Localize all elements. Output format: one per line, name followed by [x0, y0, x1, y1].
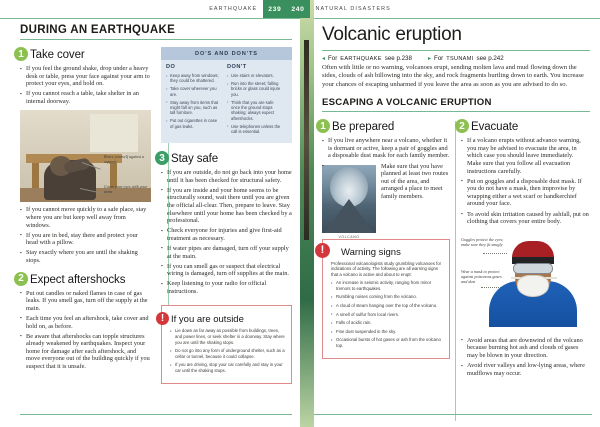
step-expect-aftershocks: 2 Expect aftershocks Put out candles or … [20, 272, 151, 371]
list-item: To avoid skin irritation caused by ashfa… [461, 211, 589, 226]
header-spacer-left [0, 0, 203, 18]
list-item: Think that you are safe once the ground … [227, 100, 282, 122]
dos-and-donts-heading: DO'S AND DON'TS [161, 47, 292, 60]
xref-prefix: For [434, 55, 443, 62]
left-column-2: DO'S AND DON'TS DO Keep away from window… [161, 47, 292, 384]
goggles-shape [513, 263, 553, 274]
step-item-list: If you feel the ground shake, drop under… [20, 65, 151, 105]
step-title: Be prepared [332, 121, 394, 133]
left-column-1: 1 Take cover If you feel the ground shak… [20, 47, 151, 384]
dont-column: DON'T Use stairs or elevators. Run into … [227, 64, 282, 137]
outside-box-title: If you are outside [171, 314, 244, 325]
dust-mask-shape [517, 275, 549, 297]
list-item: Put out cigarettes in case of gas leaks. [166, 118, 221, 129]
xref-topic: EARTHQUAKE [340, 56, 381, 62]
chapter-title: Volcanic eruption [322, 24, 590, 46]
right-page-top-rule [314, 18, 600, 19]
list-item: If you live anywhere near a volcano, whe… [322, 137, 450, 160]
section-heading: ESCAPING A VOLCANIC ERUPTION [322, 97, 590, 111]
list-item: If water pipes are damaged, turn off you… [161, 245, 292, 260]
right-page-bottom-rule [314, 414, 592, 415]
exclamation-icon: ! [156, 312, 169, 325]
right-page: Volcanic eruption ◂ For EARTHQUAKE see p… [300, 18, 600, 427]
list-item: Avoid river valleys and low-lying areas,… [461, 362, 589, 377]
chapter-title-rule [322, 50, 590, 51]
step-title: Stay safe [171, 153, 218, 165]
xref-prefix: For [328, 55, 337, 62]
list-item: If you are driving, stop your car carefu… [170, 362, 285, 373]
warning-box-list: An increase in seismic activity, ranging… [331, 280, 443, 348]
cross-reference-tsunami[interactable]: ▸ For TSUNAMI see p.242 [428, 55, 504, 62]
list-item: Stay exactly where you are until the sha… [20, 249, 151, 264]
list-item: Put out candles or naked flames in case … [20, 290, 151, 313]
outside-box-list: Lie down as far away as possible from bu… [170, 328, 285, 373]
list-item: A cloud of steam hanging over the top of… [331, 303, 443, 309]
xref-topic: TSUNAMI [446, 56, 473, 62]
running-header: EARTHQUAKE 239 240 NATURAL DISASTERS [0, 0, 600, 18]
right-column-1: 1 Be prepared If you live anywhere near … [322, 119, 450, 382]
photo-man-wrapper: Goggles protect the eyes; make sure they… [461, 231, 589, 335]
list-item: Fine dust suspended in the sky. [331, 329, 443, 335]
do-column: DO Keep away from windows; they could be… [166, 64, 221, 137]
step-number-badge: 1 [316, 119, 330, 133]
page-number-left: 239 [263, 0, 286, 18]
step-title: Take cover [30, 49, 85, 61]
right-columns: 1 Be prepared If you live anywhere near … [322, 119, 590, 382]
triangle-right-icon: ▸ [428, 55, 431, 62]
step-item-list: If a volcano erupts without advance warn… [461, 137, 589, 226]
header-label-right: NATURAL DISASTERS [310, 0, 397, 18]
gutter-decorative-image [300, 0, 314, 427]
photo-take-cover-under-desk: Brace yourself against a support Cover y… [20, 110, 151, 202]
xref-suffix: see p.238 [385, 55, 412, 62]
step-stay-safe: 3 Stay safe If you are outside, do not g… [161, 151, 292, 295]
title-rule [20, 39, 292, 40]
step-item-list-after-photo: If you cannot move quickly to a safe pla… [20, 206, 151, 264]
step-number-badge: 2 [455, 119, 469, 133]
list-item: If you are outside, do not go back into … [161, 169, 292, 184]
list-item: Use stairs or elevators. [227, 73, 282, 78]
list-item: Avoid areas that are downwind of the vol… [461, 337, 589, 360]
book-spread: EARTHQUAKE 239 240 NATURAL DISASTERS DUR… [0, 0, 600, 427]
left-page: DURING AN EARTHQUAKE 1 Take cover If you… [0, 18, 300, 427]
step-title: Evacuate [471, 121, 518, 133]
list-item: Use telephones unless the call is essent… [227, 124, 282, 135]
do-title: DO [166, 64, 221, 70]
step-item-list-after-photo: Avoid areas that are downwind of the vol… [461, 337, 589, 377]
step-item-list: Put out candles or naked flames in case … [20, 290, 151, 371]
xref-suffix: see p.242 [477, 55, 504, 62]
list-item: Keep away from windows; they could be sh… [166, 73, 221, 84]
photo-callout-cover-eyes: Cover your eyes with your arms [104, 184, 148, 194]
window-shape [90, 114, 138, 152]
step-evacuate: 2 Evacuate If a volcano erupts without a… [461, 119, 589, 226]
left-page-top-rule [0, 18, 300, 19]
list-item: Take cover wherever you are. [166, 86, 221, 97]
list-item: Each time you feel an aftershock, take c… [20, 315, 151, 330]
step-number-badge: 2 [14, 272, 28, 286]
dos-and-donts-box: DO'S AND DON'TS DO Keep away from window… [161, 47, 292, 143]
list-item: Check everyone for injuries and give fir… [161, 227, 292, 242]
list-item: If you cannot move quickly to a safe pla… [20, 206, 151, 229]
step-item-list-wrapped: Make sure that you have planned at least… [322, 163, 450, 201]
if-you-are-outside-box: ! If you are outside Lie down as far awa… [161, 305, 292, 383]
list-item: Do not go into any form of underground s… [170, 348, 285, 359]
step-be-prepared: 1 Be prepared If you live anywhere near … [322, 119, 450, 200]
list-item: An increase in seismic activity, ranging… [331, 280, 443, 291]
list-item: If you are in bed, stay there and protec… [20, 232, 151, 247]
warning-box-title: Warning signs [341, 247, 443, 258]
right-column-2: 2 Evacuate If a volcano erupts without a… [461, 119, 589, 382]
warning-signs-box: ! Warning signs Professional volcanologi… [322, 239, 450, 359]
column-divider [455, 121, 456, 421]
list-item: If you can smell gas or suspect that ele… [161, 263, 292, 278]
section-rule [322, 111, 590, 112]
list-item: Make sure that you have planned at least… [322, 163, 450, 201]
list-item: If you are inside and your home seems to… [161, 187, 292, 225]
list-item: If you cannot reach a table, take shelte… [20, 90, 151, 105]
photo-man-with-mask-and-goggles [489, 231, 577, 327]
list-item: Occasional bursts of hot gases or ash fr… [331, 337, 443, 348]
list-item: Falls of acidic rain. [331, 320, 443, 326]
page-number-right: 240 [286, 0, 309, 18]
triangle-left-icon: ◂ [322, 55, 325, 62]
cross-reference-earthquake[interactable]: ◂ For EARTHQUAKE see p.238 [322, 55, 412, 62]
list-item: Rumbling noises coming from the volcano. [331, 294, 443, 300]
list-item: A smell of sulfur from local rivers. [331, 312, 443, 318]
page-title: DURING AN EARTHQUAKE [20, 24, 292, 39]
step-item-list: If you are outside, do not go back into … [161, 169, 292, 295]
step-number-badge: 3 [155, 151, 169, 165]
list-item: Be aware that aftershocks can topple str… [20, 333, 151, 371]
list-item: Run into the street; falling bricks or g… [227, 81, 282, 97]
photo-callout-brace: Brace yourself against a support [104, 154, 148, 164]
left-page-bottom-rule [20, 414, 292, 415]
step-take-cover: 1 Take cover If you feel the ground shak… [20, 47, 151, 105]
exclamation-icon: ! [315, 243, 330, 258]
list-item: Put on goggles and a disposable dust mas… [461, 178, 589, 208]
step-number-badge: 1 [14, 47, 28, 61]
list-item: Stay away from items that might fall on … [166, 100, 221, 116]
dont-title: DON'T [227, 64, 282, 70]
header-spacer-right [397, 0, 600, 18]
cross-reference-row: ◂ For EARTHQUAKE see p.238 ▸ For TSUNAMI… [322, 55, 590, 62]
left-columns: 1 Take cover If you feel the ground shak… [20, 47, 292, 384]
header-label-left: EARTHQUAKE [203, 0, 263, 18]
list-item: Lie down as far away as possible from bu… [170, 328, 285, 345]
warning-box-intro: Professional volcanologists study grumbl… [331, 261, 443, 278]
step-item-list: If you live anywhere near a volcano, whe… [322, 137, 450, 160]
step-title: Expect aftershocks [30, 274, 125, 286]
list-item: Keep listening to your radio for officia… [161, 280, 292, 295]
chapter-intro: Often with little or no warning, volcano… [322, 64, 590, 89]
list-item: If a volcano erupts without advance warn… [461, 137, 589, 175]
list-item: If you feel the ground shake, drop under… [20, 65, 151, 88]
